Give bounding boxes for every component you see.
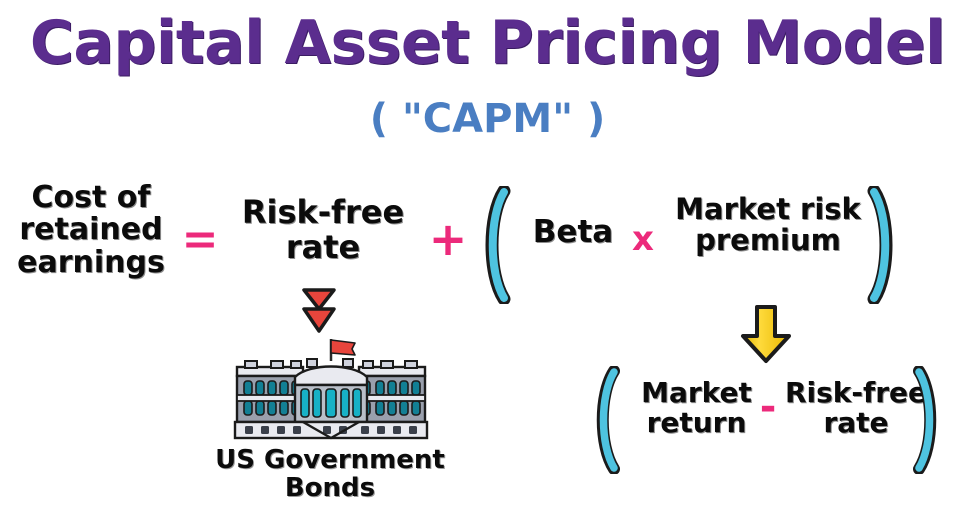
down-arrow-icon xyxy=(736,303,796,369)
plus-operator: + xyxy=(425,216,471,262)
open-paren-icon xyxy=(478,186,512,308)
close-paren-icon xyxy=(912,366,944,478)
open-paren-icon xyxy=(589,366,621,478)
us-government-bonds-caption: US Government Bonds xyxy=(205,446,455,502)
close-paren-icon xyxy=(866,186,900,308)
capm-diagram: Capital Asset Pricing Model ( "CAPM" ) C… xyxy=(0,0,975,514)
risk-free-rate-label: Risk-free rate xyxy=(783,378,929,438)
risk-free-rate-label: Risk-free rate xyxy=(228,195,418,264)
multiply-operator: x xyxy=(622,222,664,256)
cost-of-retained-earnings-label: Cost of retained earnings xyxy=(6,182,176,279)
equals-operator: = xyxy=(176,218,224,262)
white-house-icon xyxy=(231,337,431,446)
market-risk-premium-label: Market risk premium xyxy=(662,194,874,257)
page-title: Capital Asset Pricing Model xyxy=(0,8,975,78)
beta-label: Beta xyxy=(519,216,627,249)
page-subtitle: ( "CAPM" ) xyxy=(0,96,975,142)
fast-down-arrow-icon xyxy=(297,287,341,341)
